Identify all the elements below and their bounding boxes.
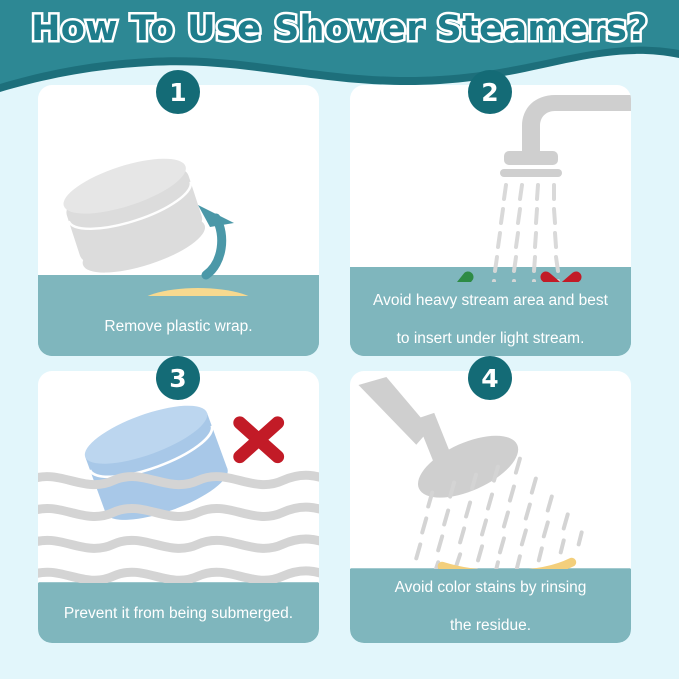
infographic-root: How To Use Shower Steamers? xyxy=(0,0,679,679)
cross-icon xyxy=(240,423,278,457)
arrow-icon xyxy=(198,205,234,275)
step-card-3[interactable]: Prevent it from being submerged. xyxy=(38,371,319,643)
step-card-1[interactable]: Remove plastic wrap. xyxy=(38,85,319,356)
step-caption-3: Prevent it from being submerged. xyxy=(38,583,319,643)
steps-grid: Remove plastic wrap. xyxy=(0,0,679,679)
step-caption-1: Remove plastic wrap. xyxy=(38,296,319,356)
step-card-2[interactable]: Avoid heavy stream area and bestto inser… xyxy=(350,85,631,356)
step-badge-2: 2 xyxy=(468,70,512,114)
step-badge-1: 1 xyxy=(156,70,200,114)
step-badge-4: 4 xyxy=(468,356,512,400)
step-badge-3: 3 xyxy=(156,356,200,400)
step-caption-4: Avoid color stains by rinsingthe residue… xyxy=(350,569,631,643)
step-caption-2: Avoid heavy stream area and bestto inser… xyxy=(350,282,631,356)
step-card-4[interactable]: Avoid color stains by rinsingthe residue… xyxy=(350,371,631,643)
